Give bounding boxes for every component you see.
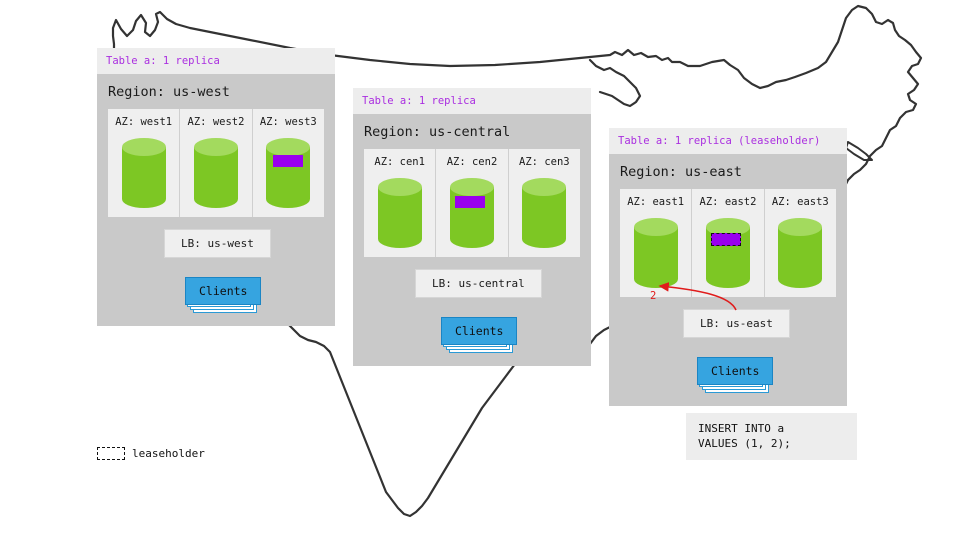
diagram-canvas: Table a: 1 replica Region: us-west AZ: w… [0,0,960,540]
region-title-us-west: Region: us-west [97,74,335,109]
az-label-east2: AZ: east2 [700,196,757,208]
range-replica-marker-west3 [273,155,303,167]
load-balancer-us-east[interactable]: LB: us-east [683,309,790,338]
legend-label-leaseholder: leaseholder [132,447,205,460]
az-label-west3: AZ: west3 [260,116,317,128]
region-panel-us-east: Table a: 1 replica (leaseholder) Region:… [609,128,847,406]
legend: leaseholder [97,447,205,460]
replica-banner-us-central: Table a: 1 replica [353,88,591,114]
load-balancer-us-west[interactable]: LB: us-west [164,229,271,258]
node-cylinder-cen2[interactable] [447,177,497,249]
region-panel-us-west: Table a: 1 replica Region: us-west AZ: w… [97,48,335,326]
region-panel-us-central: Table a: 1 replica Region: us-central AZ… [353,88,591,366]
great-lakes-path [590,60,640,106]
node-cylinder-east3[interactable] [775,217,825,289]
node-cylinder-west1[interactable] [119,137,169,209]
node-cylinder-cen1[interactable] [375,177,425,249]
az-cell-cen2[interactable]: AZ: cen2 [436,149,508,257]
az-label-cen3: AZ: cen3 [519,156,570,168]
az-cell-west2[interactable]: AZ: west2 [180,109,252,217]
flow-arrow-label-2: 2 [650,290,656,302]
region-title-us-east: Region: us-east [609,154,847,189]
clients-button-us-west[interactable]: Clients [185,277,261,305]
az-cell-cen1[interactable]: AZ: cen1 [364,149,436,257]
clients-button-us-central[interactable]: Clients [441,317,517,345]
leaseholder-marker-east2 [711,233,741,246]
az-cell-west1[interactable]: AZ: west1 [108,109,180,217]
az-label-west2: AZ: west2 [188,116,245,128]
az-label-west1: AZ: west1 [115,116,172,128]
az-cell-cen3[interactable]: AZ: cen3 [509,149,580,257]
range-replica-marker-cen2 [455,196,485,208]
clients-us-central[interactable]: Clients [441,317,517,345]
az-cell-east1[interactable]: AZ: east1 [620,189,692,297]
clients-us-east[interactable]: Clients [697,357,773,385]
az-label-cen2: AZ: cen2 [447,156,498,168]
node-cylinder-east2[interactable] [703,217,753,289]
node-cylinder-west3[interactable] [263,137,313,209]
az-label-east3: AZ: east3 [772,196,829,208]
node-cylinder-cen3[interactable] [519,177,569,249]
az-cell-west3[interactable]: AZ: west3 [253,109,324,217]
replica-banner-us-east: Table a: 1 replica (leaseholder) [609,128,847,154]
az-cell-east2[interactable]: AZ: east2 [692,189,764,297]
replica-banner-us-west: Table a: 1 replica [97,48,335,74]
az-label-cen1: AZ: cen1 [374,156,425,168]
region-title-us-central: Region: us-central [353,114,591,149]
clients-us-west[interactable]: Clients [185,277,261,305]
leaseholder-swatch-icon [97,447,125,460]
az-cell-east3[interactable]: AZ: east3 [765,189,836,297]
load-balancer-us-central[interactable]: LB: us-central [415,269,542,298]
az-label-east1: AZ: east1 [627,196,684,208]
node-cylinder-west2[interactable] [191,137,241,209]
az-row-us-west: AZ: west1 AZ: west2 [108,109,324,217]
clients-button-us-east[interactable]: Clients [697,357,773,385]
sql-statement-box: INSERT INTO a VALUES (1, 2); [686,413,857,460]
az-row-us-central: AZ: cen1 AZ: cen2 [364,149,580,257]
long-island-path [846,142,872,160]
az-row-us-east: AZ: east1 AZ: east2 [620,189,836,297]
node-cylinder-east1[interactable] [631,217,681,289]
